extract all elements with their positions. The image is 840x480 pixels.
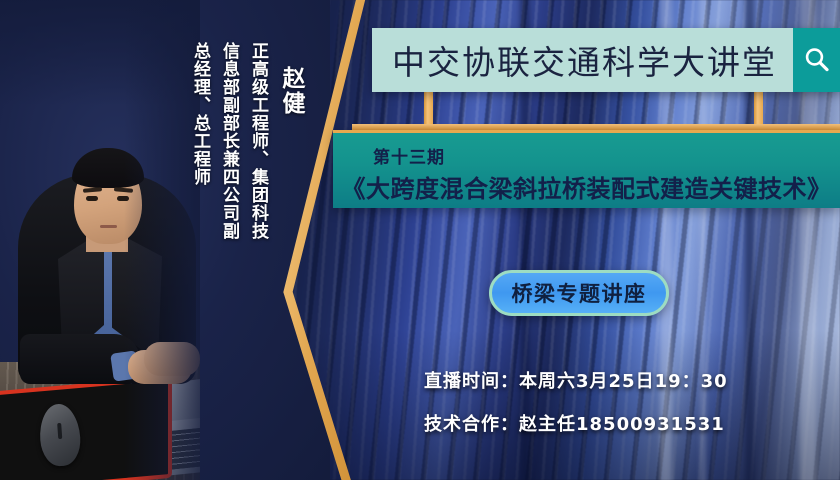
webinar-poster: 赵健 正高级工程师、集团科技 信息部副部长兼四公司副 总经理、总工程师 中交协联… (0, 0, 840, 480)
signboard-post-left (424, 92, 433, 128)
issue-number: 第十三期 (373, 143, 445, 168)
photo-fade-overlay (0, 0, 200, 480)
broadcast-time-text: 直播时间：本周六3月25日19：30 (424, 367, 728, 393)
speaker-credential-line-1: 正高级工程师、集团科技 (246, 42, 271, 240)
technical-contact-text: 技术合作：赵主任18500931531 (424, 410, 725, 436)
speaker-credential-line-3: 总经理、总工程师 (188, 42, 213, 186)
speaker-name: 赵健 (275, 66, 309, 116)
subtitle-panel: 第十三期 《大跨度混合梁斜拉桥装配式建造关键技术》 (333, 130, 840, 208)
topic-badge[interactable]: 桥梁专题讲座 (489, 270, 669, 316)
lecture-title: 《大跨度混合梁斜拉桥装配式建造关键技术》 (333, 169, 840, 204)
search-icon[interactable] (793, 28, 840, 92)
masthead-title: 中交协联交通科学大讲堂 (372, 28, 793, 92)
signboard-post-right (754, 92, 763, 128)
masthead-banner: 中交协联交通科学大讲堂 (372, 28, 840, 92)
speaker-credentials-block: 赵健 正高级工程师、集团科技 信息部副部长兼四公司副 总经理、总工程师 (188, 14, 309, 314)
speaker-credential-line-2: 信息部副部长兼四公司副 (217, 42, 242, 240)
background-bottom-vignette (288, 330, 840, 480)
speaker-photo (0, 0, 200, 480)
